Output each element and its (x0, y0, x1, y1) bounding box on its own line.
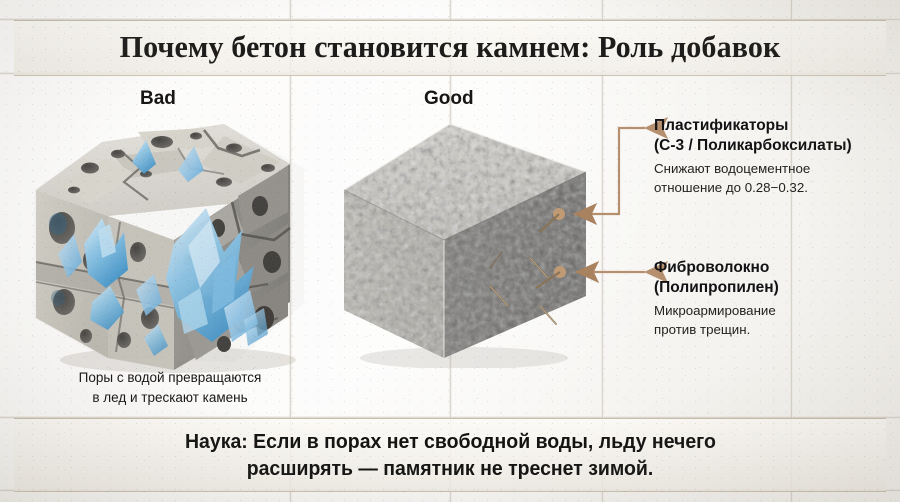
annotation-1-sub-line-2: отношение до 0.28−0.32. (654, 179, 900, 197)
annotation-1-title-line-1: Пластификаторы (654, 116, 900, 136)
bad-caption-line-1: Поры с водой превращаются (20, 368, 320, 388)
annotation-1-sub-line-1: Снижают водоцементное (654, 160, 900, 178)
bottom-caption-line-1-rest: Если в порах нет свободной воды, льду не… (247, 430, 715, 453)
bottom-caption-lead: Наука: (185, 430, 248, 453)
annotation-fiber: Фиброволокно (Полипропилен) Микроармиров… (654, 258, 900, 339)
annotation-1-title-line-2: (С-3 / Поликарбоксилаты) (654, 136, 900, 156)
infographic-poster: Почему бетон становится камнем: Роль доб… (0, 0, 900, 502)
annotation-2-title-line-2: (Полипропилен) (654, 278, 900, 298)
column-label-bad: Bad (140, 88, 176, 110)
bottom-caption-line-1: Наука: Если в порах нет свободной воды, … (185, 428, 716, 455)
bad-cube-caption: Поры с водой превращаются в лед и треска… (20, 368, 320, 407)
bottom-caption-line-2: расширять — памятник не треснет зимой. (247, 455, 654, 482)
page-title: Почему бетон становится камнем: Роль доб… (14, 20, 887, 74)
column-label-good: Good (424, 88, 474, 110)
good-concrete-cube-illustration (340, 110, 590, 368)
bad-caption-line-2: в лед и трескают камень (20, 388, 320, 408)
annotation-2-sub-line-1: Микроармирование (654, 302, 900, 320)
annotation-2-title-line-1: Фиброволокно (654, 258, 900, 278)
bad-concrete-cube-illustration (28, 112, 310, 374)
bottom-caption: Наука: Если в порах нет свободной воды, … (0, 424, 900, 486)
annotation-plasticizers: Пластификаторы (С-3 / Поликарбоксилаты) … (654, 116, 900, 197)
annotation-2-sub-line-2: против трещин. (654, 321, 900, 339)
